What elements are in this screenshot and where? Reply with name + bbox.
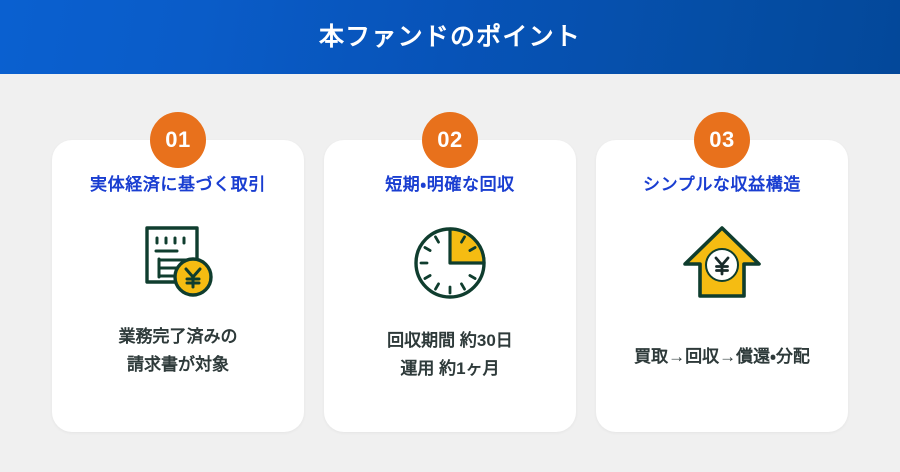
point-card-body: 回収期間 約30日 運用 約1ヶ月 [387, 327, 513, 383]
section-header: 本ファンドのポイント [0, 0, 900, 74]
point-card-title: シンプルな収益構造 [643, 176, 801, 193]
point-card-01[interactable]: 01 実体経済に基づく取引 [52, 140, 304, 432]
point-card-body: 買取→回収→償還・分配 [572, 343, 872, 371]
point-card-body: 業務完了済みの 請求書が対象 [119, 323, 238, 379]
body-line: 回収期間 約30日 [387, 327, 513, 355]
point-card-title: 短期・明確な回収 [385, 176, 515, 193]
point-number-badge: 01 [150, 112, 206, 168]
body-line: 業務完了済みの [119, 323, 238, 351]
body-line: 運用 約1ヶ月 [387, 355, 513, 383]
points-section: 本ファンドのポイント 01 実体経済に基づく取引 [0, 0, 900, 472]
point-number-badge: 03 [694, 112, 750, 168]
up-arrow-yen-icon [679, 215, 765, 311]
body-line: 買取→回収→償還・分配 [572, 343, 872, 371]
invoice-yen-icon [135, 215, 221, 311]
body-line: 請求書が対象 [119, 351, 238, 379]
page-title: 本ファンドのポイント [319, 25, 581, 50]
point-card-02[interactable]: 02 短期・明確な回収 [324, 140, 576, 432]
point-number-badge: 02 [422, 112, 478, 168]
clock-quarter-icon [407, 215, 493, 311]
cards-row: 01 実体経済に基づく取引 [0, 74, 900, 472]
point-card-03[interactable]: 03 シンプルな収益構造 [596, 140, 848, 432]
point-card-title: 実体経済に基づく取引 [90, 176, 266, 193]
